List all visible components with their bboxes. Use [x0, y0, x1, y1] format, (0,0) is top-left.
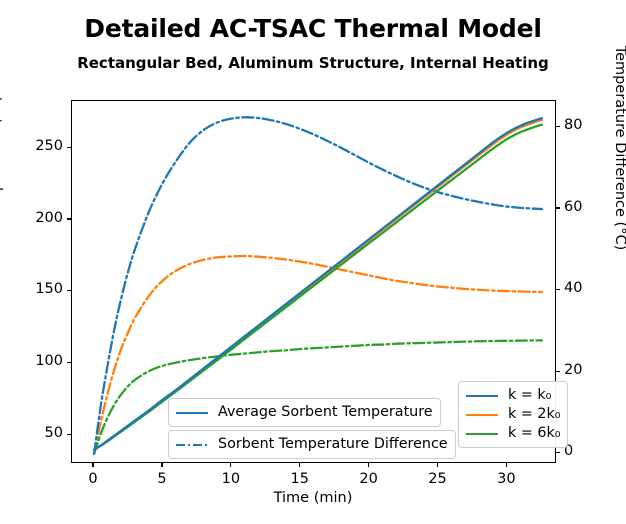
legend-label: Sorbent Temperature Difference: [218, 437, 448, 451]
legend-line-solid-icon: [175, 406, 209, 420]
legend-line-k0-icon: [465, 389, 499, 403]
x-tick-mark: [437, 463, 438, 467]
y-left-tick-label: 150: [0, 281, 63, 297]
x-tick-mark: [230, 463, 231, 467]
chart-subtitle: Rectangular Bed, Aluminum Structure, Int…: [0, 54, 626, 72]
legend-item: Sorbent Temperature Difference: [175, 435, 448, 454]
y-left-tick-label: 250: [0, 138, 63, 154]
legend-item: Average Sorbent Temperature: [175, 403, 433, 422]
y-right-tick-label: 40: [564, 280, 604, 296]
legend-label-k6: k = 6k₀: [508, 426, 560, 440]
y-left-tick-label: 200: [0, 210, 63, 226]
y-left-tick-mark: [67, 362, 71, 363]
x-tick-label: 30: [481, 471, 531, 487]
y-right-tick-mark: [556, 207, 560, 208]
y-left-tick-mark: [67, 147, 71, 148]
y-left-tick-mark: [67, 290, 71, 291]
y-right-tick-label: 0: [564, 443, 604, 459]
y-right-tick-label: 60: [564, 199, 604, 215]
y-left-tick-mark: [67, 218, 71, 219]
legend-conductivity-series: k = k₀ k = 2k₀ k = 6k₀: [458, 381, 568, 448]
legend-sorbent-temperature-difference: Sorbent Temperature Difference: [168, 430, 456, 459]
legend-line-k6-icon: [465, 427, 499, 441]
x-tick-mark: [506, 463, 507, 467]
x-axis-title: Time (min): [0, 490, 626, 506]
legend-line-k2-icon: [465, 408, 499, 422]
x-tick-mark: [299, 463, 300, 467]
y-right-tick-label: 20: [564, 362, 604, 378]
chart-figure: Detailed AC-TSAC Thermal Model Rectangul…: [0, 0, 626, 524]
y-right-tick-mark: [556, 371, 560, 372]
y-left-tick-label: 100: [0, 353, 63, 369]
legend-item-k6: k = 6k₀: [465, 424, 560, 443]
x-tick-label: 0: [68, 471, 118, 487]
y-right-tick-mark: [556, 452, 560, 453]
chart-title: Detailed AC-TSAC Thermal Model: [0, 14, 626, 43]
y-axis-left-title: Temperature (°C): [0, 38, 4, 278]
y-left-tick-label: 50: [0, 425, 63, 441]
y-left-tick-mark: [67, 434, 71, 435]
legend-label: Average Sorbent Temperature: [218, 405, 433, 419]
x-tick-label: 20: [344, 471, 394, 487]
x-tick-mark: [368, 463, 369, 467]
y-right-tick-label: 80: [564, 117, 604, 133]
y-axis-right-title: Temperature Difference (°C): [612, 18, 626, 278]
legend-item-k0: k = k₀: [465, 386, 560, 405]
x-tick-mark: [92, 463, 93, 467]
legend-line-dashdot-icon: [175, 438, 209, 452]
legend-label-k2: k = 2k₀: [508, 407, 560, 421]
legend-item-k2: k = 2k₀: [465, 405, 560, 424]
x-tick-label: 25: [413, 471, 463, 487]
x-tick-mark: [161, 463, 162, 467]
x-tick-label: 15: [275, 471, 325, 487]
x-tick-label: 5: [137, 471, 187, 487]
legend-average-sorbent-temperature: Average Sorbent Temperature: [168, 398, 441, 427]
x-tick-label: 10: [206, 471, 256, 487]
legend-label-k0: k = k₀: [508, 388, 551, 402]
y-right-tick-mark: [556, 126, 560, 127]
y-right-tick-mark: [556, 289, 560, 290]
